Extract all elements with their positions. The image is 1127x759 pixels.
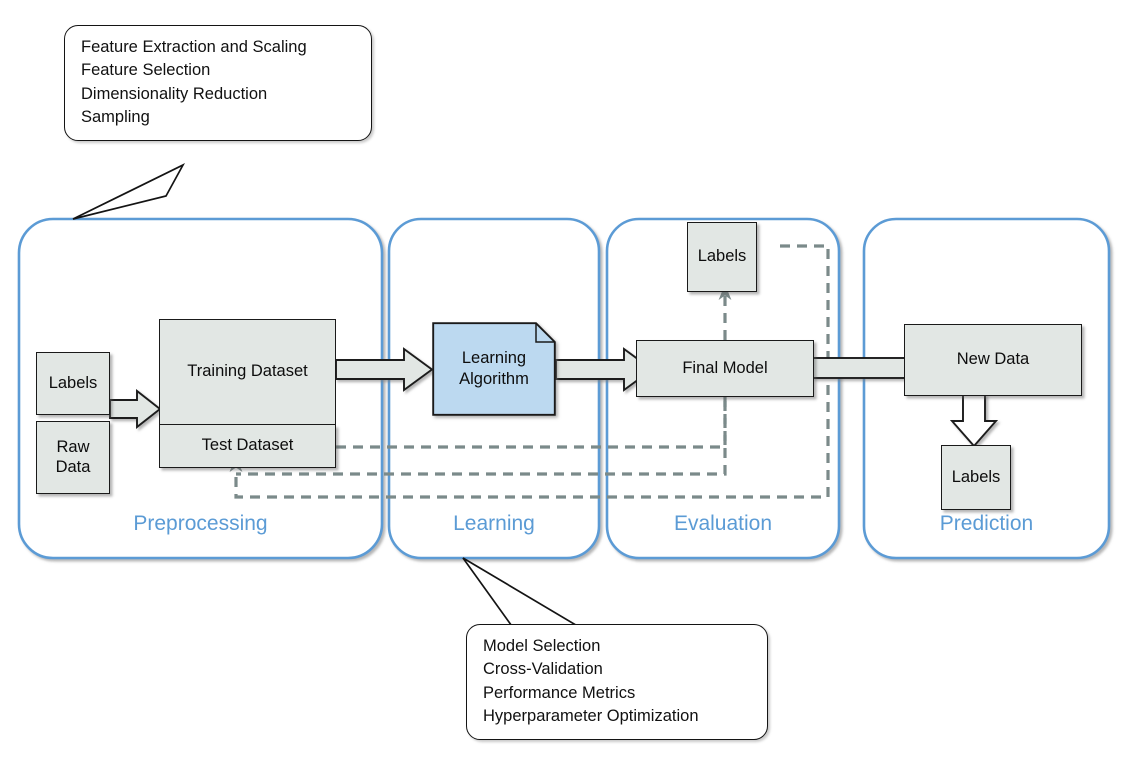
callout-learning-line-1: Model Selection (483, 635, 753, 658)
callout-learning-line-3: Performance Metrics (483, 682, 753, 705)
callout-tail-preprocessing (73, 165, 183, 219)
callout-preprocessing-line-3: Dimensionality Reduction (81, 83, 357, 106)
phase-label-prediction: Prediction (864, 512, 1109, 536)
node-raw-data-line-2: Data (56, 458, 91, 477)
node-eval-labels-text: Labels (698, 247, 747, 266)
node-training-dataset-text: Training Dataset (187, 362, 307, 381)
callout-learning-line-2: Cross-Validation (483, 658, 753, 681)
node-labels-input[interactable]: Labels (36, 352, 110, 415)
phase-label-learning: Learning (389, 512, 599, 536)
connector-final-model-to-new-data (813, 358, 905, 378)
callout-learning: Model Selection Cross-Validation Perform… (466, 624, 768, 740)
node-raw-data[interactable]: Raw Data (36, 421, 110, 494)
callout-preprocessing-line-1: Feature Extraction and Scaling (81, 36, 357, 59)
callout-preprocessing: Feature Extraction and Scaling Feature S… (64, 25, 372, 141)
callout-learning-line-4: Hyperparameter Optimization (483, 705, 753, 728)
node-final-model-text: Final Model (682, 359, 767, 378)
node-labels-input-text: Labels (49, 374, 98, 393)
node-eval-labels[interactable]: Labels (687, 222, 757, 292)
node-test-dataset-text: Test Dataset (202, 436, 294, 455)
callout-tail-learning (463, 558, 586, 631)
node-final-model[interactable]: Final Model (636, 340, 814, 397)
callout-preprocessing-line-4: Sampling (81, 106, 357, 129)
node-predicted-labels[interactable]: Labels (941, 445, 1011, 510)
node-test-dataset[interactable]: Test Dataset (159, 425, 336, 468)
node-new-data[interactable]: New Data (904, 324, 1082, 396)
node-training-dataset[interactable]: Training Dataset (159, 319, 336, 425)
phase-label-preprocessing: Preprocessing (19, 512, 382, 536)
node-learning-algorithm-line-1: Learning (462, 348, 526, 369)
callout-preprocessing-line-2: Feature Selection (81, 59, 357, 82)
node-new-data-text: New Data (957, 350, 1029, 369)
node-predicted-labels-text: Labels (952, 468, 1001, 487)
node-raw-data-line-1: Raw (56, 438, 89, 457)
diagram-canvas: Feature Extraction and Scaling Feature S… (0, 0, 1127, 759)
node-learning-algorithm-line-2: Algorithm (459, 369, 529, 390)
phase-label-evaluation: Evaluation (607, 512, 839, 536)
node-learning-algorithm[interactable]: Learning Algorithm (432, 322, 556, 416)
